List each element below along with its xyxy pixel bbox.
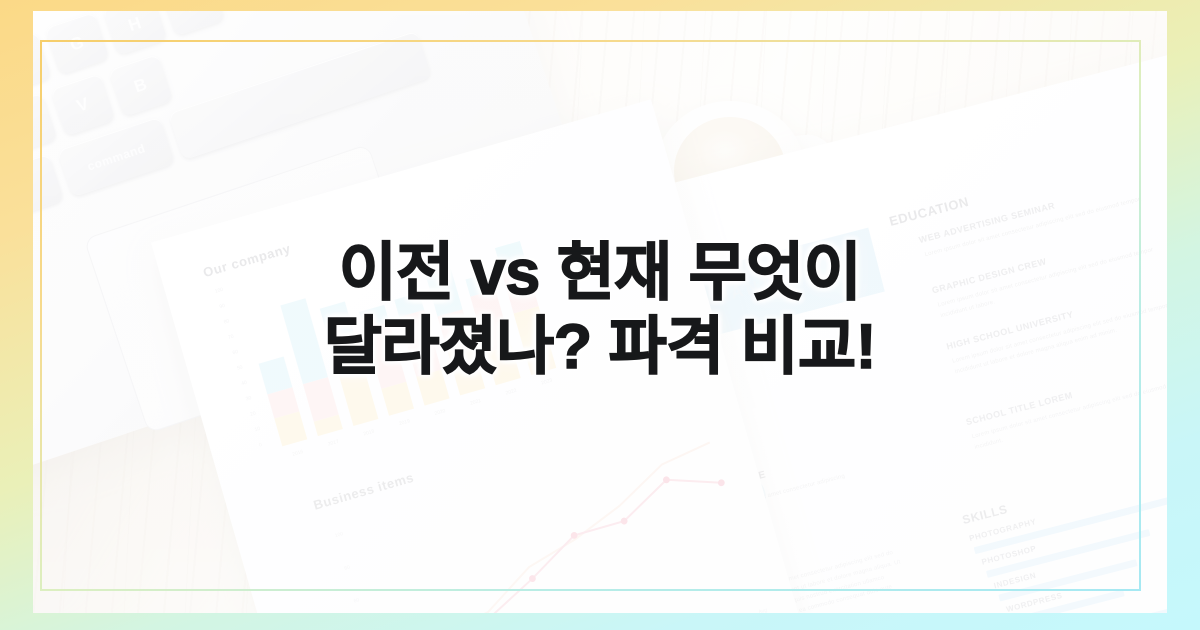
bar-2022-seg-yellow bbox=[486, 345, 520, 385]
bar-tick-0: 0 bbox=[258, 442, 262, 449]
bar-2021-seg-yellow bbox=[445, 334, 485, 395]
line-tick-80: 80 bbox=[344, 565, 351, 572]
line-series-pink-markers bbox=[362, 461, 752, 613]
bar-label-2017: 2017 bbox=[320, 437, 347, 450]
report-heading-business: Business items bbox=[312, 470, 416, 513]
bar-label-2018: 2018 bbox=[356, 427, 383, 440]
bar-2020-seg-pink bbox=[399, 310, 441, 377]
section-skills: SKILLS bbox=[961, 502, 1009, 527]
line-tick-60: 60 bbox=[353, 597, 360, 604]
background-photo: D F G H N X C V B option command bbox=[33, 11, 1167, 613]
line-tick-100: 100 bbox=[334, 531, 344, 539]
bar-label-2021: 2021 bbox=[462, 396, 489, 409]
bar-2018-seg-cyan bbox=[320, 302, 358, 353]
bar-2023-seg-pink bbox=[502, 266, 539, 314]
bar-tick-100: 100 bbox=[214, 287, 224, 295]
bar-tick-70: 70 bbox=[228, 334, 235, 341]
bar-tick-50: 50 bbox=[236, 364, 243, 371]
banner-root: D F G H N X C V B option command bbox=[0, 0, 1200, 630]
bar-tick-60: 60 bbox=[232, 349, 239, 356]
line-series-pink bbox=[366, 465, 748, 613]
bar-2023-seg-yellow bbox=[514, 306, 557, 375]
bar-2019-seg-yellow bbox=[381, 382, 414, 416]
bar-2022-seg-pink bbox=[470, 290, 511, 353]
line-label-aug: Aug bbox=[758, 607, 768, 613]
section-education: EDUCATION bbox=[888, 194, 971, 229]
bar-2019-seg-pink bbox=[364, 322, 406, 389]
bar-2021-seg-cyan bbox=[426, 269, 463, 317]
bar-label-2016: 2016 bbox=[285, 447, 312, 460]
bar-label-2022: 2022 bbox=[498, 386, 525, 399]
bar-2020-seg-yellow bbox=[416, 370, 449, 406]
bar-tick-90: 90 bbox=[219, 303, 226, 310]
business-line-chart bbox=[346, 416, 773, 613]
bar-tick-20: 20 bbox=[250, 411, 257, 418]
bar-tick-10: 10 bbox=[254, 426, 261, 433]
bar-2018-seg-yellow bbox=[339, 370, 378, 426]
bar-label-2019: 2019 bbox=[391, 416, 418, 429]
bar-label-2020: 2020 bbox=[427, 406, 454, 419]
company-bar-chart: 2016 2017 2018 20 bbox=[233, 197, 556, 447]
bar-2016-seg-yellow bbox=[274, 411, 307, 446]
bar-tick-40: 40 bbox=[241, 380, 248, 387]
line-series-peach bbox=[360, 442, 752, 613]
bar-tick-30: 30 bbox=[245, 395, 252, 402]
bar-tick-80: 80 bbox=[223, 318, 230, 325]
bar-label-2023: 2023 bbox=[533, 376, 560, 389]
